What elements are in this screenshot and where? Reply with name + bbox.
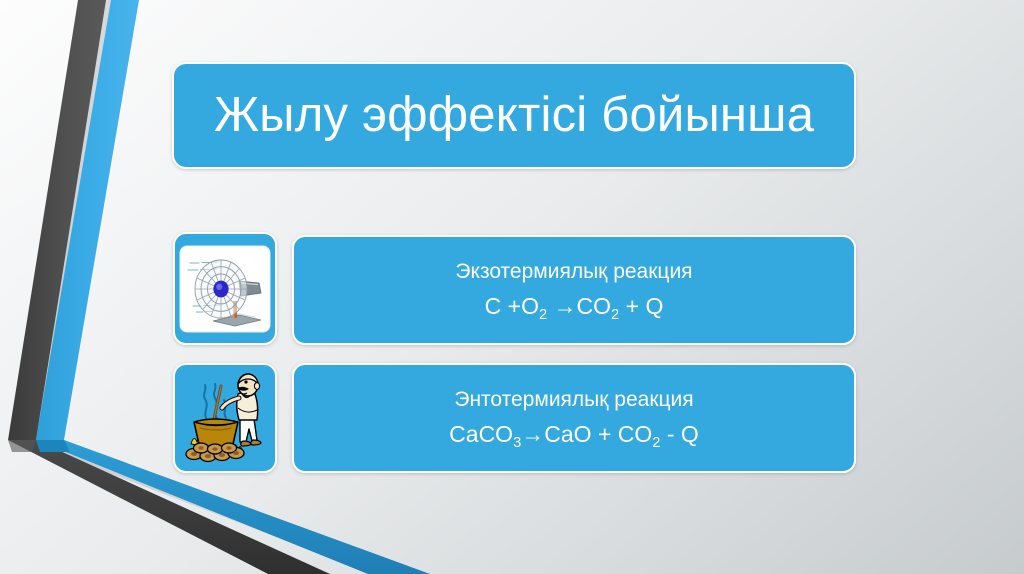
- page-title: Жылу эффектісі бойынша: [214, 90, 814, 141]
- reaction-formula-exothermic: C +O2 →CO2 + Q: [485, 293, 664, 321]
- reaction-card-endothermic: Энтотермиялық реакция CaCO3→CaO + CO2 - …: [292, 363, 856, 473]
- man-cooking-over-fire-illustration-icon: [177, 368, 273, 468]
- reaction-formula-endothermic: CaCO3→CaO + CO2 - Q: [449, 421, 699, 449]
- slide-title-card: Жылу эффектісі бойынша: [172, 62, 856, 169]
- reaction-name-endothermic: Энтотермиялық реакция: [454, 387, 693, 412]
- electric-fan-illustration-icon: [177, 237, 273, 341]
- reaction-name-exothermic: Экзотермиялық реакция: [455, 259, 692, 284]
- presentation-slide: Жылу эффектісі бойынша: [0, 0, 1024, 574]
- picture-card-endothermic[interactable]: [173, 363, 277, 473]
- reaction-card-exothermic: Экзотермиялық реакция C +O2 →CO2 + Q: [292, 235, 856, 345]
- picture-card-exothermic[interactable]: [173, 232, 277, 345]
